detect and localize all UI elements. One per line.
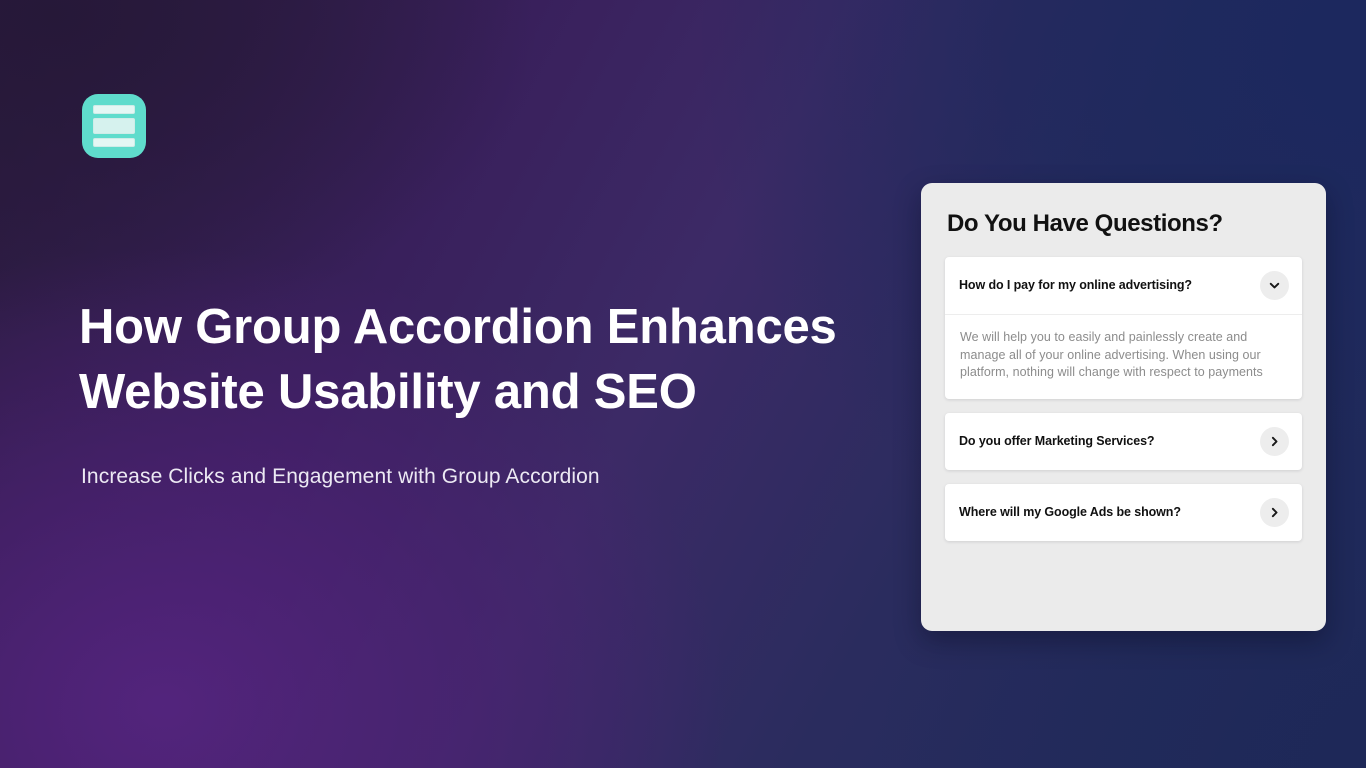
- chevron-right-icon[interactable]: [1260, 498, 1289, 527]
- accordion-header-2[interactable]: Do you offer Marketing Services?: [945, 413, 1302, 470]
- faq-card-title: Do You Have Questions?: [947, 209, 1302, 239]
- page-title: How Group Accordion Enhances Website Usa…: [79, 295, 899, 425]
- logo-bar-top: [93, 105, 135, 114]
- slide-canvas: How Group Accordion Enhances Website Usa…: [0, 0, 1366, 768]
- accordion-answer-1: We will help you to easily and painlessl…: [945, 315, 1302, 399]
- page-subtitle: Increase Clicks and Engagement with Grou…: [81, 462, 841, 491]
- accordion-item-1[interactable]: How do I pay for my online advertising? …: [945, 257, 1302, 399]
- chevron-down-icon[interactable]: [1260, 271, 1289, 300]
- logo-bar-bottom: [93, 138, 135, 147]
- logo-bar-middle: [93, 118, 135, 134]
- faq-card: Do You Have Questions? How do I pay for …: [921, 183, 1326, 631]
- accordion-item-2[interactable]: Do you offer Marketing Services?: [945, 413, 1302, 470]
- accordion-question-3: Where will my Google Ads be shown?: [959, 504, 1191, 521]
- accordion-logo-icon: [82, 94, 146, 158]
- accordion-item-3[interactable]: Where will my Google Ads be shown?: [945, 484, 1302, 541]
- accordion-header-3[interactable]: Where will my Google Ads be shown?: [945, 484, 1302, 541]
- accordion-question-2: Do you offer Marketing Services?: [959, 433, 1164, 450]
- accordion-group: How do I pay for my online advertising? …: [945, 257, 1302, 541]
- accordion-header-1[interactable]: How do I pay for my online advertising?: [945, 257, 1302, 315]
- chevron-right-icon[interactable]: [1260, 427, 1289, 456]
- accordion-question-1: How do I pay for my online advertising?: [959, 277, 1202, 294]
